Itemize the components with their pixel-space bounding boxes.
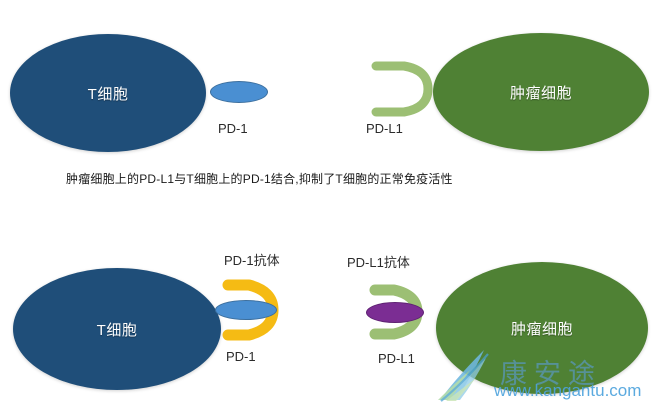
bottom-tumor-cell-label: 肿瘤细胞 <box>511 318 573 339</box>
figure-caption: 肿瘤细胞上的PD-L1与T细胞上的PD-1结合,抑制了T细胞的正常免疫活性 <box>66 170 453 187</box>
top-tumor-cell-label: 肿瘤细胞 <box>510 82 572 103</box>
top-tumor-cell: 肿瘤细胞 <box>433 33 649 151</box>
top-pd1-receptor <box>210 81 268 103</box>
top-pdl1-label: PD-L1 <box>366 121 403 136</box>
top-t-cell: T细胞 <box>10 34 206 152</box>
bottom-pdl1-antibody-label: PD-L1抗体 <box>347 252 410 271</box>
leaf-logo-icon <box>436 348 502 402</box>
top-pdl1-ligand <box>374 60 438 118</box>
watermark-url: www.kangantu.com <box>494 381 641 401</box>
bottom-t-cell: T细胞 <box>13 268 221 390</box>
diagram-canvas: T细胞 PD-1 PD-L1 肿瘤细胞 肿瘤细胞上的PD-L1与T细胞上的PD-… <box>0 0 658 404</box>
bottom-t-cell-label: T细胞 <box>97 319 138 340</box>
top-t-cell-label: T细胞 <box>88 83 129 104</box>
panel-top: T细胞 PD-1 PD-L1 肿瘤细胞 <box>0 0 658 165</box>
top-pd1-label: PD-1 <box>218 121 248 136</box>
bottom-pd1-label: PD-1 <box>226 349 256 364</box>
bottom-pdl1-antibody <box>366 302 424 323</box>
bottom-pd1-antibody-label: PD-1抗体 <box>224 250 280 269</box>
bottom-pdl1-label: PD-L1 <box>378 351 415 366</box>
bottom-pd1-receptor <box>215 300 277 320</box>
